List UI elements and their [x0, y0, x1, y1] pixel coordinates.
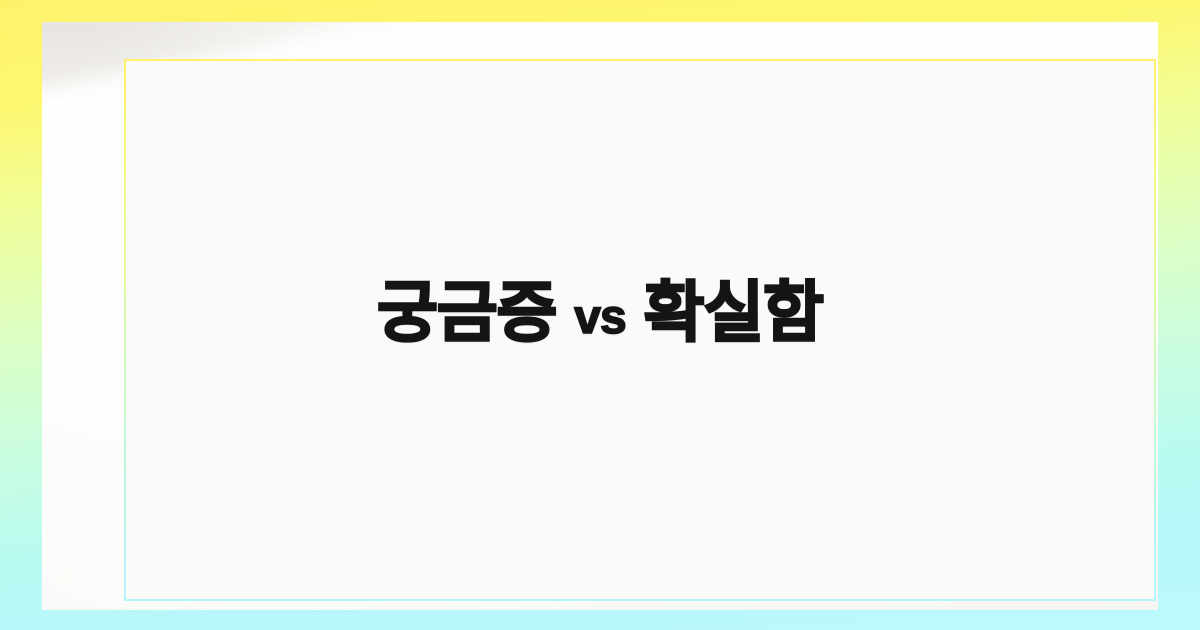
headline-left-term: 궁금증: [377, 259, 556, 355]
headline: 궁금증 vs 확실함: [377, 259, 823, 355]
headline-separator: vs: [574, 290, 625, 345]
headline-right-term: 확실함: [644, 259, 823, 355]
thumbnail-card: Business Report 궁금증 vs 확실함: [0, 0, 1200, 630]
headline-container: 궁금증 vs 확실함: [0, 0, 1200, 630]
